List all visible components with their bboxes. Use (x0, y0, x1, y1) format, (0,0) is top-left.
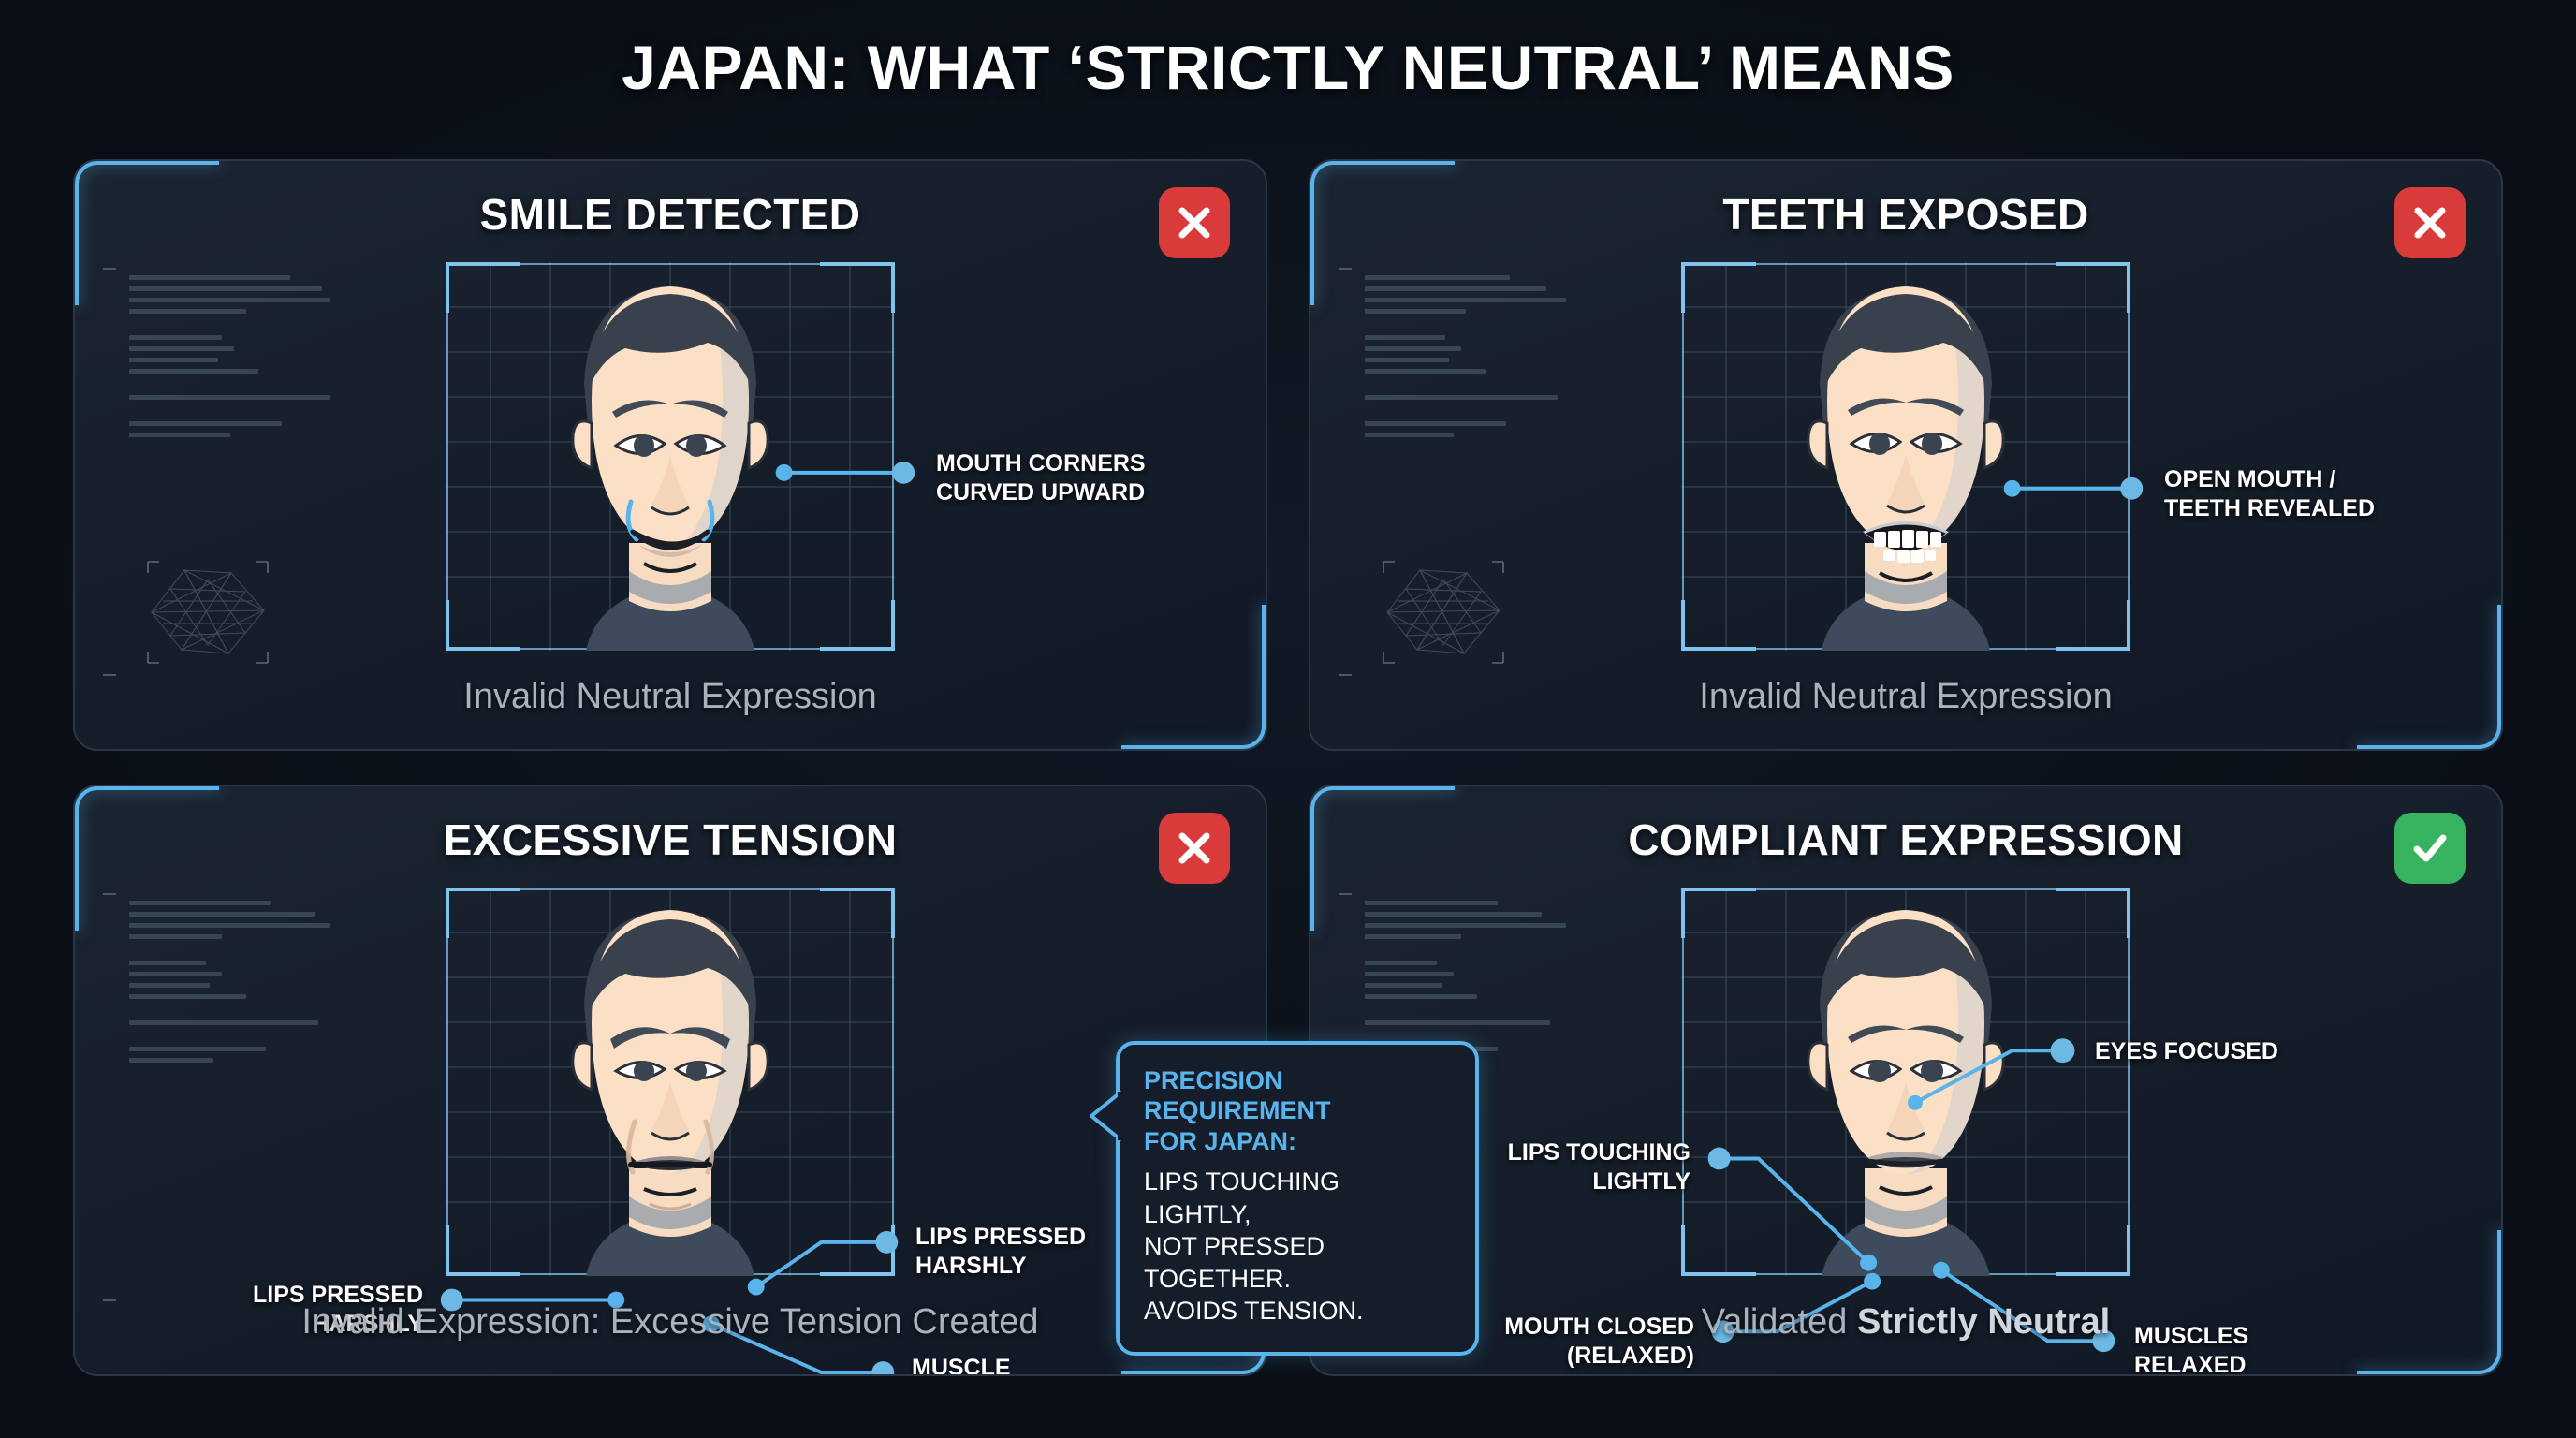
annotation-label: MOUTH CORNERS CURVED UPWARD (936, 449, 1146, 506)
face-scan-viewport (446, 888, 895, 1276)
telemetry-tick (1339, 674, 1352, 676)
callout-body: LIPS TOUCHING LIGHTLY, NOT PRESSED TOGET… (1144, 1166, 1451, 1328)
card-caption: Invalid Expression: Excessive Tension Cr… (75, 1302, 1266, 1343)
card-compliant-expression[interactable]: COMPLIANT EXPRESSION (1309, 785, 2503, 1376)
card-title: TEETH EXPOSED (1310, 189, 2501, 240)
status-badge-pass (2394, 813, 2466, 884)
status-badge-fail (1159, 813, 1230, 884)
telemetry-lines (1365, 275, 1566, 444)
telemetry-rail (1344, 266, 1346, 678)
telemetry-lines (129, 901, 330, 1069)
infographic-page: JAPAN: WHAT ‘STRICTLY NEUTRAL’ MEANS SMI… (0, 0, 2576, 1438)
telemetry-rail (109, 891, 110, 1303)
telemetry-tick (103, 893, 116, 895)
telemetry-tick (1339, 893, 1352, 895)
telemetry-tick (1339, 268, 1352, 270)
face-scan-viewport (1681, 262, 2130, 651)
card-title: COMPLIANT EXPRESSION (1310, 814, 2501, 865)
card-smile-detected[interactable]: SMILE DETECTED (73, 159, 1267, 751)
card-caption: Invalid Neutral Expression (75, 677, 1266, 717)
face-illustration-teeth (1681, 262, 2130, 651)
telemetry-tick (103, 268, 116, 270)
telemetry-tick (103, 1299, 116, 1301)
telemetry-strip (101, 266, 335, 678)
face-illustration-tense (446, 888, 895, 1276)
card-title: EXCESSIVE TENSION (75, 814, 1266, 865)
x-icon (1172, 200, 1217, 245)
page-title: JAPAN: WHAT ‘STRICTLY NEUTRAL’ MEANS (0, 32, 2576, 103)
precision-requirement-callout: PRECISION REQUIREMENT FOR JAPAN: LIPS TO… (1116, 1041, 1479, 1356)
card-caption: Validated Strictly Neutral (1310, 1302, 2501, 1343)
card-title: SMILE DETECTED (75, 189, 1266, 240)
face-scan-viewport (1681, 888, 2130, 1276)
callout-tail (1088, 1088, 1121, 1172)
check-icon (2408, 826, 2452, 871)
telemetry-tick (103, 674, 116, 676)
wireframe-mesh-icon (1378, 556, 1509, 668)
face-illustration-neutral (1681, 888, 2130, 1276)
card-caption: Invalid Neutral Expression (1310, 677, 2501, 717)
telemetry-strip (101, 891, 335, 1303)
status-badge-fail (2394, 187, 2466, 258)
face-illustration-smiling (446, 262, 895, 651)
telemetry-strip (1337, 266, 1571, 678)
telemetry-rail (109, 266, 110, 678)
x-icon (2408, 200, 2452, 245)
annotation-label: LIPS PRESSED HARSHLY (915, 1223, 1086, 1280)
annotation-label: OPEN MOUTH / TEETH REVEALED (2164, 465, 2375, 522)
status-badge-fail (1159, 187, 1230, 258)
telemetry-lines (129, 275, 330, 444)
wireframe-mesh-icon (142, 556, 273, 668)
card-teeth-exposed[interactable]: TEETH EXPOSED (1309, 159, 2503, 751)
x-icon (1172, 826, 1217, 871)
card-excessive-tension[interactable]: EXCESSIVE TENSION (73, 785, 1267, 1376)
annotation-label: MUSCLE TENSION (912, 1354, 1016, 1376)
face-scan-viewport (446, 262, 895, 651)
callout-heading: PRECISION REQUIREMENT FOR JAPAN: (1144, 1065, 1451, 1156)
